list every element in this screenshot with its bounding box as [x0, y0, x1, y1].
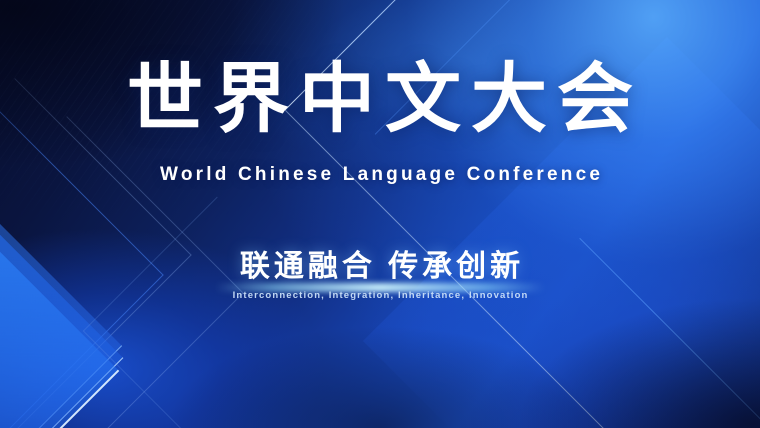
slogan-chinese: 联通融合 传承创新: [0, 250, 760, 285]
slogan-block: 联通融合 传承创新 Interconnection, Integration, …: [0, 250, 760, 301]
main-title-chinese: 世界中文大会: [0, 62, 760, 138]
banner-content: 世界中文大会 World Chinese Language Conference…: [0, 0, 760, 428]
main-title-english: World Chinese Language Conference: [0, 164, 760, 186]
conference-banner: 世界中文大会 World Chinese Language Conference…: [0, 0, 760, 428]
slogan-english: Interconnection, Integration, Inheritanc…: [0, 290, 760, 301]
